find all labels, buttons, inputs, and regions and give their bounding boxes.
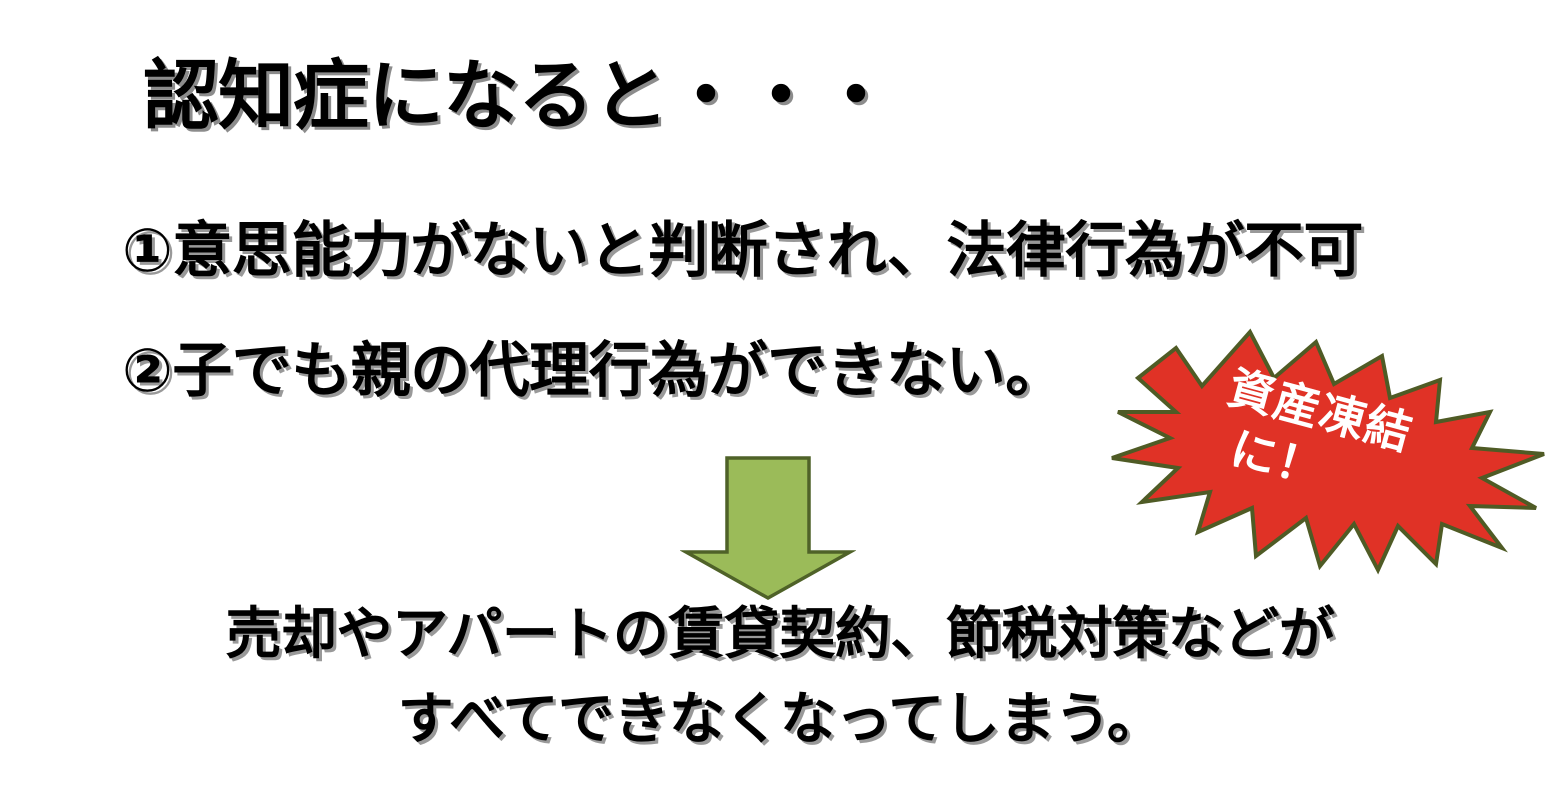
page-title: 認知症になると・・・ [143,52,893,139]
conclusion-block: 売却やアパートの賃貸契約、節税対策などが すべてできなくなってしまう。 [0,592,1560,762]
conclusion-line-1: 売却やアパートの賃貸契約、節税対策などが [0,592,1560,677]
conclusion-line-2: すべてできなくなってしまう。 [0,677,1560,762]
slide-canvas: 認知症になると・・・ ①意思能力がないと判断され、法律行為が不可 ②子でも親の代… [0,0,1560,806]
down-arrow-icon [680,452,856,604]
bullet-item-1: ①意思能力がないと判断され、法律行為が不可 [122,218,1363,284]
status-badge: 資産凍結 に！ [1098,326,1550,582]
bullet-item-2: ②子でも親の代理行為ができない。 [122,338,1065,404]
